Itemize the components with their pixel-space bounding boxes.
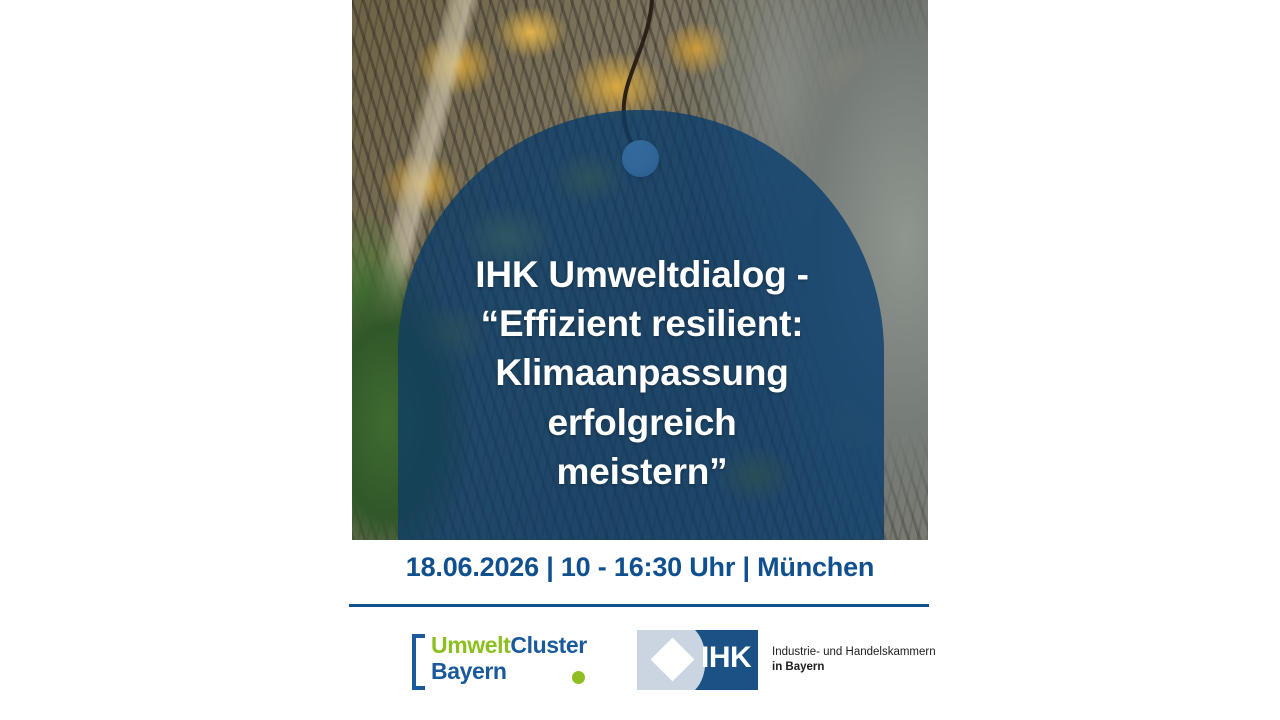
event-dateline: 18.06.2026 | 10 - 16:30 Uhr | München <box>352 552 928 583</box>
event-poster: IHK Umweltdialog - “Effizient resilient:… <box>0 0 1280 720</box>
umweltcluster-word-umwelt: Umwelt <box>431 632 510 658</box>
bracket-icon <box>412 634 425 690</box>
ihk-mark: IHK <box>637 630 758 690</box>
umweltcluster-wordmark: UmweltCluster Bayern <box>431 632 587 684</box>
ihk-logo: IHK Industrie- und Handelskammern in Bay… <box>637 630 936 690</box>
ihk-caption-line2: in Bayern <box>772 660 936 675</box>
page-title: IHK Umweltdialog - “Effizient resilient:… <box>412 250 872 496</box>
logo-row: UmweltCluster Bayern IHK Industrie- und … <box>352 622 928 704</box>
divider <box>349 604 929 607</box>
ihk-caption-line1: Industrie- und Handelskammern <box>772 646 936 658</box>
umweltcluster-word-cluster: Cluster <box>510 632 586 658</box>
ihk-caption: Industrie- und Handelskammern in Bayern <box>772 645 936 675</box>
green-dot-icon <box>572 671 585 684</box>
hero-image: IHK Umweltdialog - “Effizient resilient:… <box>352 0 928 540</box>
umweltcluster-bayern-logo: UmweltCluster Bayern <box>412 630 612 694</box>
umweltcluster-word-bayern: Bayern <box>431 658 587 684</box>
ihk-letters: IHK <box>701 643 751 673</box>
